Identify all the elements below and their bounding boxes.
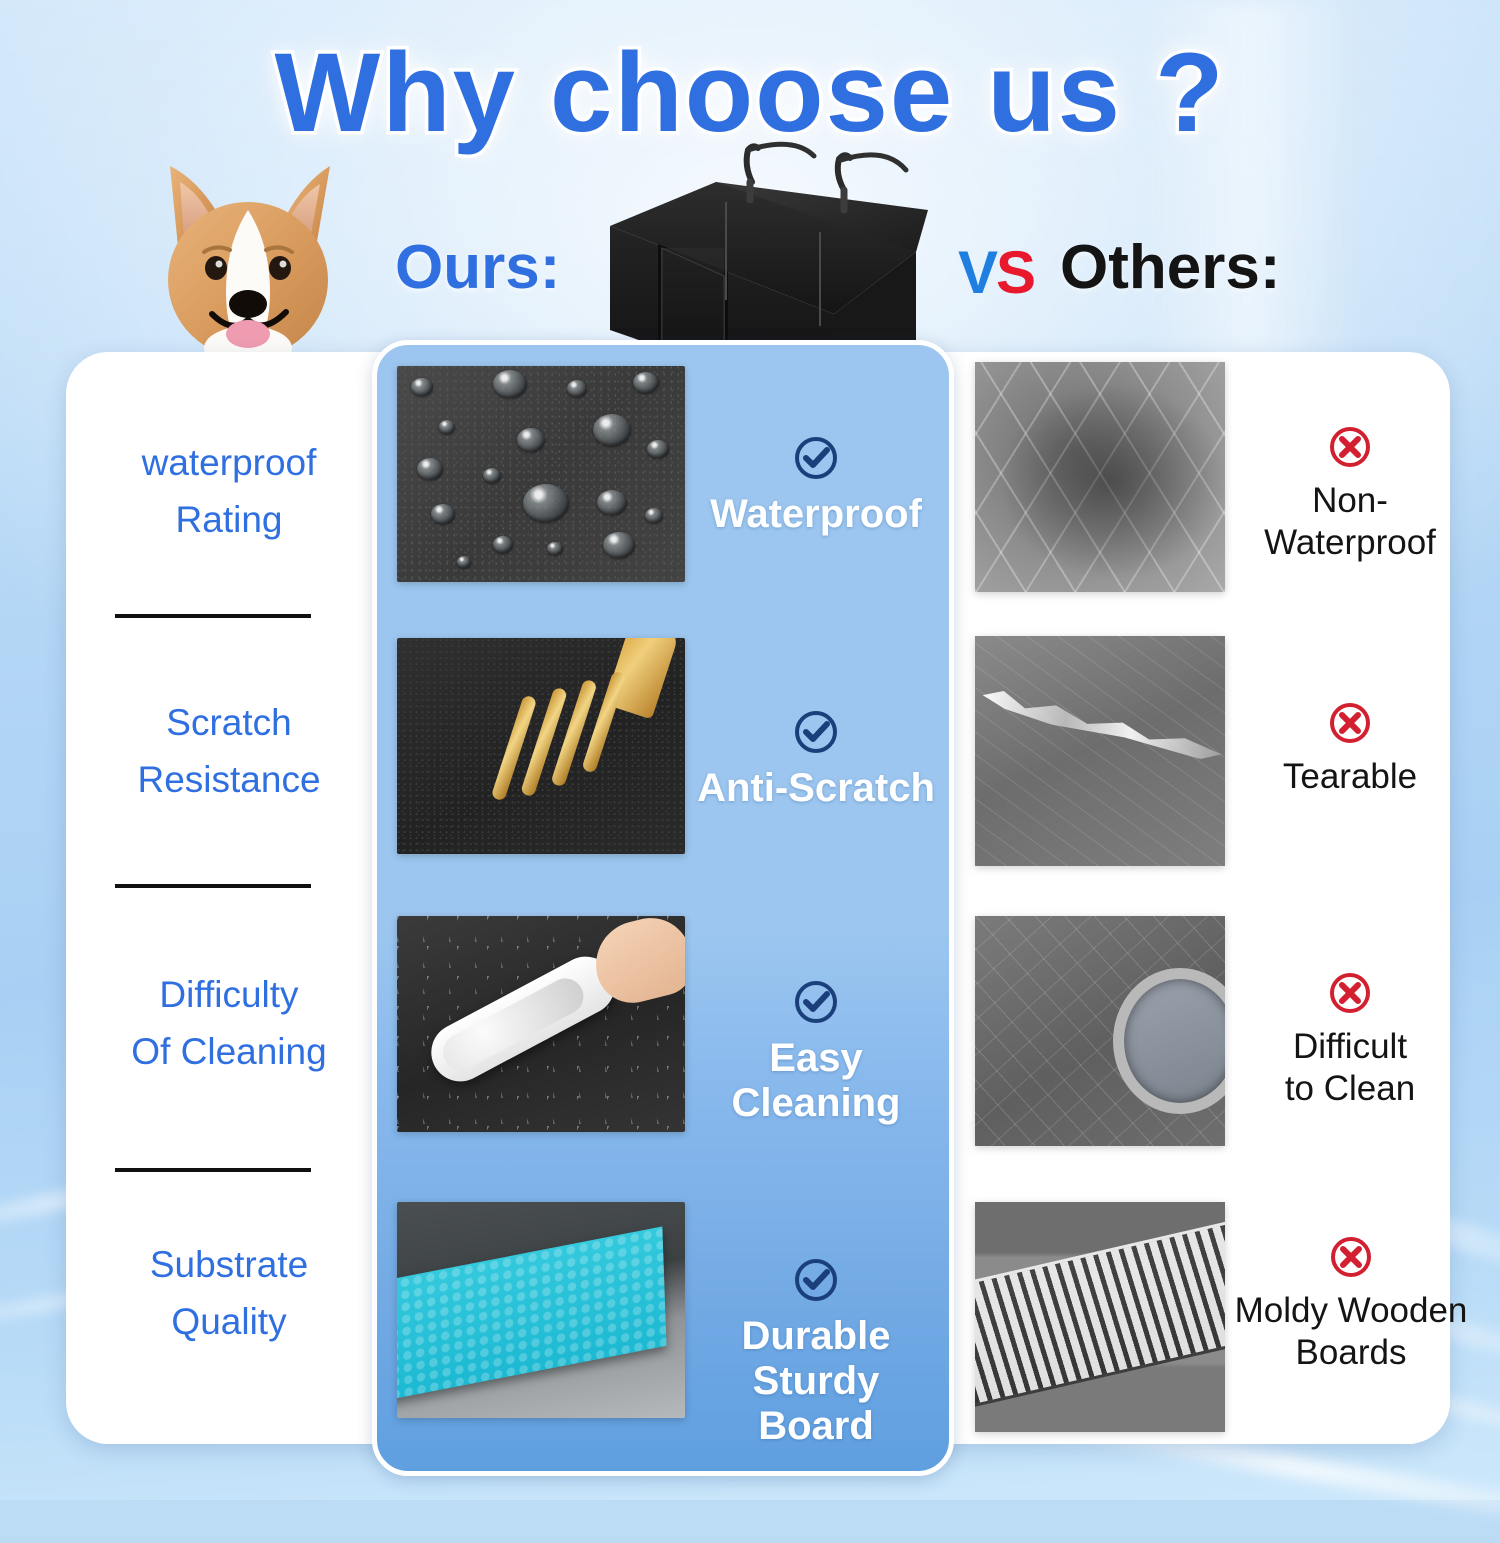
- others-verdict-line-1: Non-: [1228, 480, 1472, 522]
- criterion-line-2: Of Cleaning: [84, 1023, 374, 1080]
- ours-verdict-line-2: Sturdy Board: [690, 1359, 942, 1449]
- comparison-row: Substrate Quality Durable Sturdy Board M…: [0, 1188, 1500, 1444]
- others-photo-moldy-boards: [975, 1202, 1225, 1432]
- ours-photo-waterproof: [397, 366, 685, 582]
- row-divider: [115, 1168, 311, 1172]
- x-circle-icon: [1328, 1234, 1374, 1280]
- ours-verdict-scratch: Anti-Scratch: [690, 708, 942, 811]
- others-verdict-tearable: Tearable: [1228, 700, 1472, 798]
- criterion-label-cleaning: Difficulty Of Cleaning: [84, 966, 374, 1081]
- others-verdict-line-2: Waterproof: [1228, 522, 1472, 564]
- ours-photo-scratch: [397, 638, 685, 854]
- corgi-dog-photo: [140, 152, 375, 367]
- ours-verdict-line-2: Cleaning: [690, 1081, 942, 1126]
- check-circle-icon: [792, 978, 840, 1026]
- x-circle-icon: [1327, 424, 1373, 470]
- criterion-line-1: Scratch: [84, 694, 374, 751]
- criterion-label-waterproof: waterproof Rating: [84, 434, 374, 549]
- others-verdict-moldy-boards: Moldy Wooden Boards: [1218, 1234, 1484, 1374]
- criterion-line-1: Substrate: [84, 1236, 374, 1293]
- page-title: Why choose us ?: [0, 28, 1500, 157]
- others-verdict-difficult-clean: Difficult to Clean: [1228, 970, 1472, 1110]
- ours-verdict-waterproof: Waterproof: [690, 434, 942, 537]
- comparison-row: Difficulty Of Cleaning Easy Cleaning Dif…: [0, 904, 1500, 1188]
- ours-photo-substrate: [397, 1202, 685, 1418]
- x-circle-icon: [1327, 970, 1373, 1016]
- ours-photo-cleaning: [397, 916, 685, 1132]
- criterion-line-2: Quality: [84, 1293, 374, 1350]
- comparison-row: waterproof Rating: [0, 352, 1500, 624]
- comparison-row: Scratch Resistance Anti-Scratch Tearable: [0, 624, 1500, 904]
- others-photo-difficult-clean: [975, 916, 1225, 1146]
- others-verdict-waterproof: Non- Waterproof: [1228, 424, 1472, 564]
- x-circle-icon: [1327, 700, 1373, 746]
- check-circle-icon: [792, 1256, 840, 1304]
- others-verdict-line-1: Difficult: [1228, 1026, 1472, 1068]
- criterion-line-1: waterproof: [84, 434, 374, 491]
- criterion-label-substrate: Substrate Quality: [84, 1236, 374, 1351]
- ours-verdict-line-1: Waterproof: [690, 492, 942, 537]
- criterion-line-2: Rating: [84, 491, 374, 548]
- vs-letter-s: S: [996, 239, 1034, 306]
- criterion-label-scratch: Scratch Resistance: [84, 694, 374, 809]
- vs-letter-v: V: [958, 239, 996, 306]
- others-header-label: Others:: [1060, 232, 1280, 303]
- others-verdict-line-2: Boards: [1218, 1332, 1484, 1374]
- row-divider: [115, 614, 311, 618]
- check-circle-icon: [792, 708, 840, 756]
- vs-badge: VS: [958, 238, 1034, 307]
- others-verdict-line-1: Moldy Wooden: [1218, 1290, 1484, 1332]
- ours-header-label: Ours:: [395, 232, 560, 303]
- others-verdict-line-1: Tearable: [1228, 756, 1472, 798]
- check-circle-icon: [792, 434, 840, 482]
- ours-verdict-line-1: Durable: [690, 1314, 942, 1359]
- others-photo-waterproof: [975, 362, 1225, 592]
- criterion-line-1: Difficulty: [84, 966, 374, 1023]
- ours-verdict-line-1: Easy: [690, 1036, 942, 1081]
- ours-verdict-cleaning: Easy Cleaning: [690, 978, 942, 1126]
- row-divider: [115, 884, 311, 888]
- others-verdict-line-2: to Clean: [1228, 1068, 1472, 1110]
- ours-verdict-line-1: Anti-Scratch: [690, 766, 942, 811]
- others-photo-tearable: [975, 636, 1225, 866]
- criterion-line-2: Resistance: [84, 751, 374, 808]
- ours-verdict-substrate: Durable Sturdy Board: [690, 1256, 942, 1448]
